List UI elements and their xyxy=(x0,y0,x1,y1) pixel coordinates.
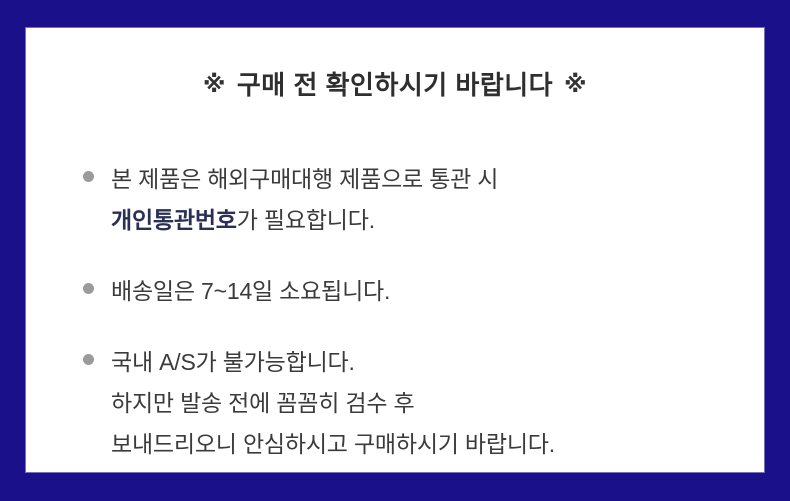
page-title: ※구매 전 확인하시기 바랍니다※ xyxy=(26,28,764,101)
notice-line-tail: 가 필요합니다. xyxy=(237,207,375,233)
list-item: 국내 A/S가 불가능합니다. 하지만 발송 전에 꼼꼼히 검수 후 보내드리오… xyxy=(83,342,764,465)
reference-mark-left-icon: ※ xyxy=(203,71,226,99)
emphasis-text: 개인통관번호 xyxy=(111,207,237,233)
list-item: 본 제품은 해외구매대행 제품으로 통관 시 개인통관번호가 필요합니다. xyxy=(83,159,764,241)
notice-line: 배송일은 7~14일 소요됩니다. xyxy=(111,271,764,312)
bullet-dot-icon xyxy=(83,171,94,182)
bullet-dot-icon xyxy=(83,354,94,365)
notice-line: 하지만 발송 전에 꼼꼼히 검수 후 xyxy=(111,383,764,424)
notice-line: 본 제품은 해외구매대행 제품으로 통관 시 xyxy=(111,159,764,200)
bullet-dot-icon xyxy=(83,283,94,294)
notice-line: 국내 A/S가 불가능합니다. xyxy=(111,342,764,383)
notice-frame: ※구매 전 확인하시기 바랍니다※ 본 제품은 해외구매대행 제품으로 통관 시… xyxy=(0,0,790,501)
reference-mark-right-icon: ※ xyxy=(564,71,587,99)
page-title-text: 구매 전 확인하시기 바랍니다 xyxy=(226,70,564,101)
notice-bullet-list: 본 제품은 해외구매대행 제품으로 통관 시 개인통관번호가 필요합니다. 배송… xyxy=(83,159,764,465)
notice-line: 개인통관번호가 필요합니다. xyxy=(111,200,764,241)
notice-panel: ※구매 전 확인하시기 바랍니다※ 본 제품은 해외구매대행 제품으로 통관 시… xyxy=(26,28,764,472)
list-item: 배송일은 7~14일 소요됩니다. xyxy=(83,271,764,312)
notice-line: 보내드리오니 안심하시고 구매하시기 바랍니다. xyxy=(111,424,764,465)
